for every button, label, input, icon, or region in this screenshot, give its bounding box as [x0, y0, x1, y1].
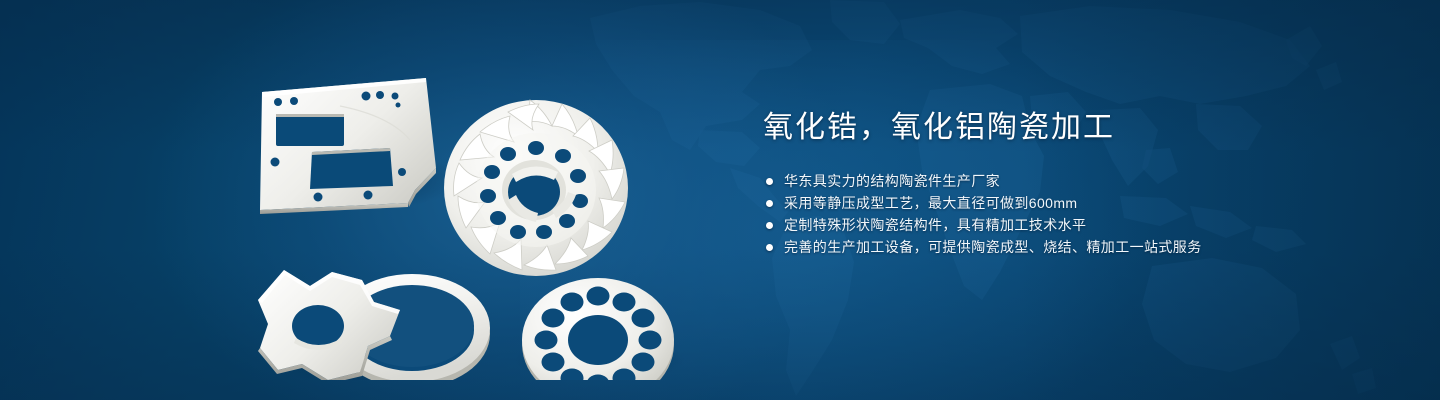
- feature-text: 定制特殊形状陶瓷结构件，具有精加工技术水平: [784, 214, 1086, 236]
- product-ceramic-plate: [260, 78, 436, 214]
- bullet-dot-icon: [766, 178, 773, 185]
- feature-text: 完善的生产加工设备，可提供陶瓷成型、烧结、精加工一站式服务: [784, 236, 1202, 258]
- product-ceramic-impeller: [444, 100, 628, 276]
- feature-text: 华东具实力的结构陶瓷件生产厂家: [784, 170, 1000, 192]
- product-photo-group: [240, 40, 710, 380]
- bullet-dot-icon: [766, 222, 773, 229]
- bullet-dot-icon: [766, 200, 773, 207]
- banner-copy: 氧化锆，氧化铝陶瓷加工 华东具实力的结构陶瓷件生产厂家 采用等静压成型工艺，最大…: [763, 108, 1323, 258]
- hero-banner: 氧化锆，氧化铝陶瓷加工 华东具实力的结构陶瓷件生产厂家 采用等静压成型工艺，最大…: [0, 0, 1440, 400]
- feature-text: 采用等静压成型工艺，最大直径可做到600mm: [784, 192, 1077, 214]
- product-ceramic-perforated-disc: [522, 278, 674, 380]
- banner-feature-list: 华东具实力的结构陶瓷件生产厂家 采用等静压成型工艺，最大直径可做到600mm 定…: [763, 170, 1323, 258]
- bullet-dot-icon: [766, 244, 773, 251]
- banner-headline: 氧化锆，氧化铝陶瓷加工: [763, 108, 1323, 148]
- list-item: 采用等静压成型工艺，最大直径可做到600mm: [763, 192, 1323, 214]
- list-item: 华东具实力的结构陶瓷件生产厂家: [763, 170, 1323, 192]
- list-item: 完善的生产加工设备，可提供陶瓷成型、烧结、精加工一站式服务: [763, 236, 1323, 258]
- list-item: 定制特殊形状陶瓷结构件，具有精加工技术水平: [763, 214, 1323, 236]
